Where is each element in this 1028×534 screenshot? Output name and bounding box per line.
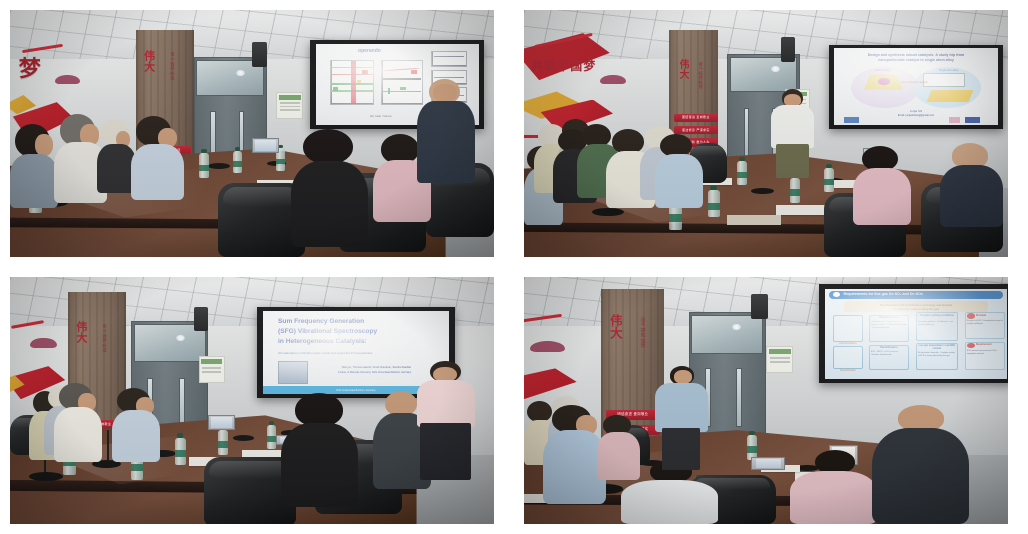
slide-subtitle: CO adsorption on Pt(111) single crystal … bbox=[278, 351, 434, 355]
left-bubble-label: Nano catalyst bbox=[854, 69, 913, 72]
row-label-desulfurization: Desulfurization bbox=[833, 342, 864, 345]
bottle-icon bbox=[233, 151, 243, 173]
slide-header-text: Requirements for flue gas De-SO₂ and De-… bbox=[844, 292, 1000, 296]
conference-room: 伟大 奋斗 铸就 辉煌 团结奋进 爱岗敬业 廉洁修身 严谨求实 开拓创新 敢为人… bbox=[524, 277, 1008, 524]
pillar-calligraphy: 伟大 bbox=[75, 321, 87, 343]
column-items-lowtemp: No denitration basically · Catalytic act… bbox=[918, 352, 956, 358]
eu-flag-logo bbox=[965, 117, 980, 123]
right-card-problem-text: Removal of SO2 / Coordinated control of … bbox=[967, 320, 1003, 326]
slide-title-line-2: nanoparticulate catalyst to single atom … bbox=[843, 58, 990, 62]
photo-collage: 梦 伟大 奋斗 铸就 辉煌 团结奋进 爱岗敬业 廉洁修身 严谨求实 开拓创新 敢… bbox=[0, 0, 1028, 534]
microphone-arm bbox=[107, 430, 109, 460]
collage-cell-bottom-right: 伟大 奋斗 铸就 辉煌 团结奋进 爱岗敬业 廉洁修身 严谨求实 开拓创新 敢为人… bbox=[514, 267, 1028, 534]
audience-member bbox=[940, 143, 1003, 227]
presenter bbox=[417, 361, 475, 480]
bottle-icon bbox=[267, 425, 277, 448]
bottle-icon bbox=[199, 153, 209, 178]
right-card-requirement-text: SO2 removal concentration / NOx synergis… bbox=[967, 350, 1003, 356]
ceiling-lamp-reflection bbox=[176, 335, 185, 341]
document-icon bbox=[242, 450, 286, 457]
institute-logo bbox=[844, 117, 859, 123]
projector-screen[interactable]: Requirements for flue gas De-SO₂ and De-… bbox=[819, 284, 1008, 383]
right-card-requirement-badge: Requirement bbox=[976, 343, 1005, 346]
slide-subtitle-line-1: Desulfurization and denitrification tech… bbox=[845, 303, 986, 307]
laptop-icon[interactable] bbox=[252, 138, 279, 153]
header-bullet-icon bbox=[833, 292, 840, 297]
row-label-denitrification: Denitrification bbox=[833, 369, 864, 372]
column-heading-denitrification: Denitrification bbox=[869, 346, 909, 349]
notice-icon bbox=[276, 92, 303, 119]
document-icon bbox=[776, 205, 829, 215]
microphone-icon bbox=[208, 163, 229, 169]
active-site-marker bbox=[878, 78, 889, 85]
slide-author: Junjie Shi bbox=[875, 109, 957, 113]
bottle-icon bbox=[737, 161, 747, 186]
audience-member bbox=[54, 383, 102, 462]
ceiling-lamp-reflection bbox=[236, 70, 245, 76]
mural-char: 梦 bbox=[19, 59, 41, 81]
presenter bbox=[771, 89, 815, 178]
right-bubble-label: Single atom alloy bbox=[919, 69, 978, 72]
laptop-icon[interactable] bbox=[208, 415, 234, 430]
door-transom bbox=[691, 315, 763, 354]
chart-c-1 bbox=[431, 51, 467, 67]
column-heading-conditions: Complex working conditions bbox=[916, 314, 958, 317]
audience-member bbox=[281, 393, 358, 507]
pillar-subtext: 奋斗 铸就 辉煌 bbox=[170, 52, 175, 80]
slide-title-line-3: in Heterogeneous Catalysis: bbox=[278, 338, 434, 346]
pillar-calligraphy: 伟大 bbox=[609, 314, 622, 339]
audience-member bbox=[112, 388, 160, 462]
microphone-icon bbox=[233, 435, 254, 441]
column-heading-lowtemp: Low gas temperature / Low NOx content bbox=[916, 344, 958, 350]
audience-member bbox=[872, 405, 969, 524]
ceiling-lamp-reflection bbox=[771, 66, 780, 72]
conference-room: 共筑中国梦 伟大 奋斗 铸就 辉煌 团结奋进 爱岗敬业 廉洁修身 严谨求实 开拓… bbox=[524, 10, 1008, 257]
single-atom-graphic bbox=[923, 73, 965, 87]
photo-bottom-right[interactable]: 伟大 奋斗 铸就 辉煌 团结奋进 爱岗敬业 廉洁修身 严谨求实 开拓创新 敢为人… bbox=[524, 277, 1008, 524]
photo-top-left[interactable]: 梦 伟大 奋斗 铸就 辉煌 团结奋进 爱岗敬业 廉洁修身 严谨求实 开拓创新 敢… bbox=[10, 10, 494, 257]
pillar-subtext: 奋斗 铸就 辉煌 bbox=[102, 324, 107, 352]
microphone-icon bbox=[592, 208, 624, 216]
speaker-icon bbox=[252, 42, 267, 67]
bottle-icon bbox=[218, 430, 228, 455]
mural-slogan: 共筑中国梦 bbox=[531, 57, 596, 74]
audience-member bbox=[10, 124, 58, 208]
bottle-icon bbox=[790, 178, 800, 203]
speaker-icon bbox=[194, 307, 209, 332]
slide-title-line-1: Sum Frequency Generation bbox=[278, 318, 434, 326]
desulfurization-illustration bbox=[833, 315, 864, 342]
collage-cell-bottom-left: 伟大 奋斗 铸就 辉煌 团结奋进 爱岗敬业 廉洁修身 严谨求实 开拓创新 敢为人… bbox=[0, 267, 514, 534]
door-vision-panel bbox=[744, 108, 750, 160]
pillar-subtext: 奋斗 铸就 辉煌 bbox=[640, 317, 645, 348]
slogan-plaque: 团结奋进 爱岗敬业 bbox=[674, 114, 718, 122]
slide-flue-gas: Requirements for flue gas De-SO₂ and De-… bbox=[825, 289, 1006, 379]
pillar-subtext: 奋斗 铸就 辉煌 bbox=[698, 62, 702, 89]
notice-icon bbox=[766, 346, 793, 373]
photo-bottom-left[interactable]: 伟大 奋斗 铸就 辉煌 团结奋进 爱岗敬业 廉洁修身 严谨求实 开拓创新 敢为人… bbox=[10, 277, 494, 524]
screen-surface: Requirements for flue gas De-SO₂ and De-… bbox=[825, 289, 1006, 379]
bottle-icon bbox=[747, 435, 758, 460]
collage-cell-top-left: 梦 伟大 奋斗 铸就 辉煌 团结奋进 爱岗敬业 廉洁修身 严谨求实 开拓创新 敢… bbox=[0, 0, 514, 267]
logo-accent bbox=[949, 117, 960, 123]
bottle-icon bbox=[175, 438, 186, 465]
requirement-badge-icon bbox=[967, 343, 975, 348]
audience-member bbox=[853, 146, 911, 225]
notice-icon bbox=[199, 356, 225, 383]
slide-subtitle-line-2: of nonferrous metal smelting flue gas bbox=[845, 307, 986, 311]
speaker-icon bbox=[781, 37, 796, 62]
photo-top-right[interactable]: 共筑中国梦 伟大 奋斗 铸就 辉煌 团结奋进 爱岗敬业 廉洁修身 严谨求实 开拓… bbox=[524, 10, 1008, 257]
problem-badge-icon bbox=[967, 313, 975, 318]
audience-member bbox=[131, 116, 184, 200]
presenter bbox=[655, 366, 708, 470]
bottle-icon bbox=[708, 190, 720, 217]
conference-room: 伟大 奋斗 铸就 辉煌 团结奋进 爱岗敬业 廉洁修身 严谨求实 开拓创新 敢为人… bbox=[10, 277, 494, 524]
projector-screen[interactable]: Design and synthesis robust catalysts: A… bbox=[829, 45, 1003, 129]
screen-surface: Design and synthesis robust catalysts: A… bbox=[834, 48, 997, 124]
building-photo bbox=[278, 361, 308, 384]
denitrification-illustration bbox=[833, 346, 864, 368]
pillar-calligraphy: 伟大 bbox=[143, 50, 155, 72]
center-label: Rest of research catalysis bbox=[893, 82, 935, 84]
chart-a bbox=[330, 60, 374, 105]
audience-member bbox=[291, 129, 368, 248]
slide-design-synthesis: Design and synthesis robust catalysts: A… bbox=[834, 48, 997, 124]
presenter bbox=[417, 79, 475, 183]
column-items-conditions: Secondary pollution · Coefficients · Low… bbox=[918, 321, 956, 327]
audience-member bbox=[655, 134, 703, 208]
audience-member bbox=[790, 450, 877, 524]
slide-heading: operando bbox=[342, 49, 397, 55]
alloy-surface-graphic bbox=[927, 90, 974, 102]
column-heading-desulfurization: Desulfurization bbox=[869, 316, 909, 319]
pillar-calligraphy: 伟大 bbox=[676, 59, 687, 79]
speaker-icon bbox=[751, 294, 767, 319]
slide-title-line-2: (SFG) Vibrational Spectroscopy bbox=[278, 328, 434, 336]
slide-title-line-1: Design and synthesis robust catalysts: A… bbox=[843, 53, 990, 57]
bottle-icon bbox=[824, 168, 834, 191]
slide-figure-footer: Nat. Catal. / Science bbox=[348, 115, 413, 118]
door-vision-panel bbox=[736, 368, 742, 427]
notebook-icon bbox=[727, 215, 780, 225]
column-items-desulfurization: Oxidized (Lime) · Organic amine · Dynami… bbox=[871, 321, 907, 330]
right-card-problem-badge: Problem bbox=[976, 314, 1005, 317]
door-transom bbox=[730, 57, 798, 92]
collage-cell-top-right: 共筑中国梦 伟大 奋斗 铸就 辉煌 团结奋进 爱岗敬业 廉洁修身 严谨求实 开拓… bbox=[514, 0, 1028, 267]
column-items-denitrification: SCR · SNCR · LoTOx process · Oxidation d… bbox=[871, 351, 907, 357]
conference-room: 梦 伟大 奋斗 铸就 辉煌 团结奋进 爱岗敬业 廉洁修身 严谨求实 开拓创新 敢… bbox=[10, 10, 494, 257]
laptop-icon[interactable] bbox=[751, 457, 785, 469]
